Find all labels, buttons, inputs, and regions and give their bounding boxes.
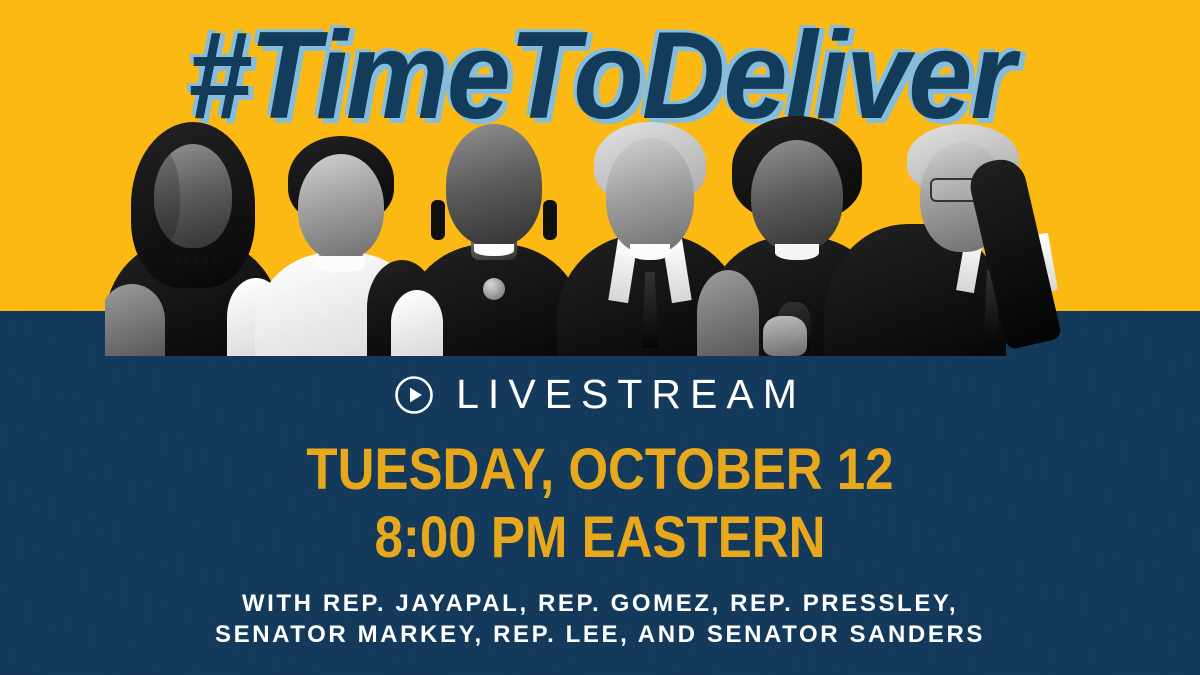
credits-line-2: SENATOR MARKEY, REP. LEE, AND SENATOR SA… — [0, 619, 1200, 650]
play-circle-icon — [394, 375, 434, 415]
credits-line-1: WITH REP. JAYAPAL, REP. GOMEZ, REP. PRES… — [0, 588, 1200, 619]
speaker-photo-band — [105, 108, 1097, 356]
event-time: 8:00 PM EASTERN — [72, 504, 1128, 572]
event-date: TUESDAY, OCTOBER 12 — [72, 436, 1128, 504]
livestream-label: LIVESTREAM — [452, 374, 806, 415]
portrait-senator-sanders — [857, 108, 1097, 356]
livestream-row: LIVESTREAM — [0, 374, 1200, 415]
livestream-promo-poster: #TimeToDeliver — [0, 0, 1200, 675]
speaker-credits: WITH REP. JAYAPAL, REP. GOMEZ, REP. PRES… — [0, 588, 1200, 650]
event-date-block: TUESDAY, OCTOBER 12 8:00 PM EASTERN — [0, 436, 1200, 572]
